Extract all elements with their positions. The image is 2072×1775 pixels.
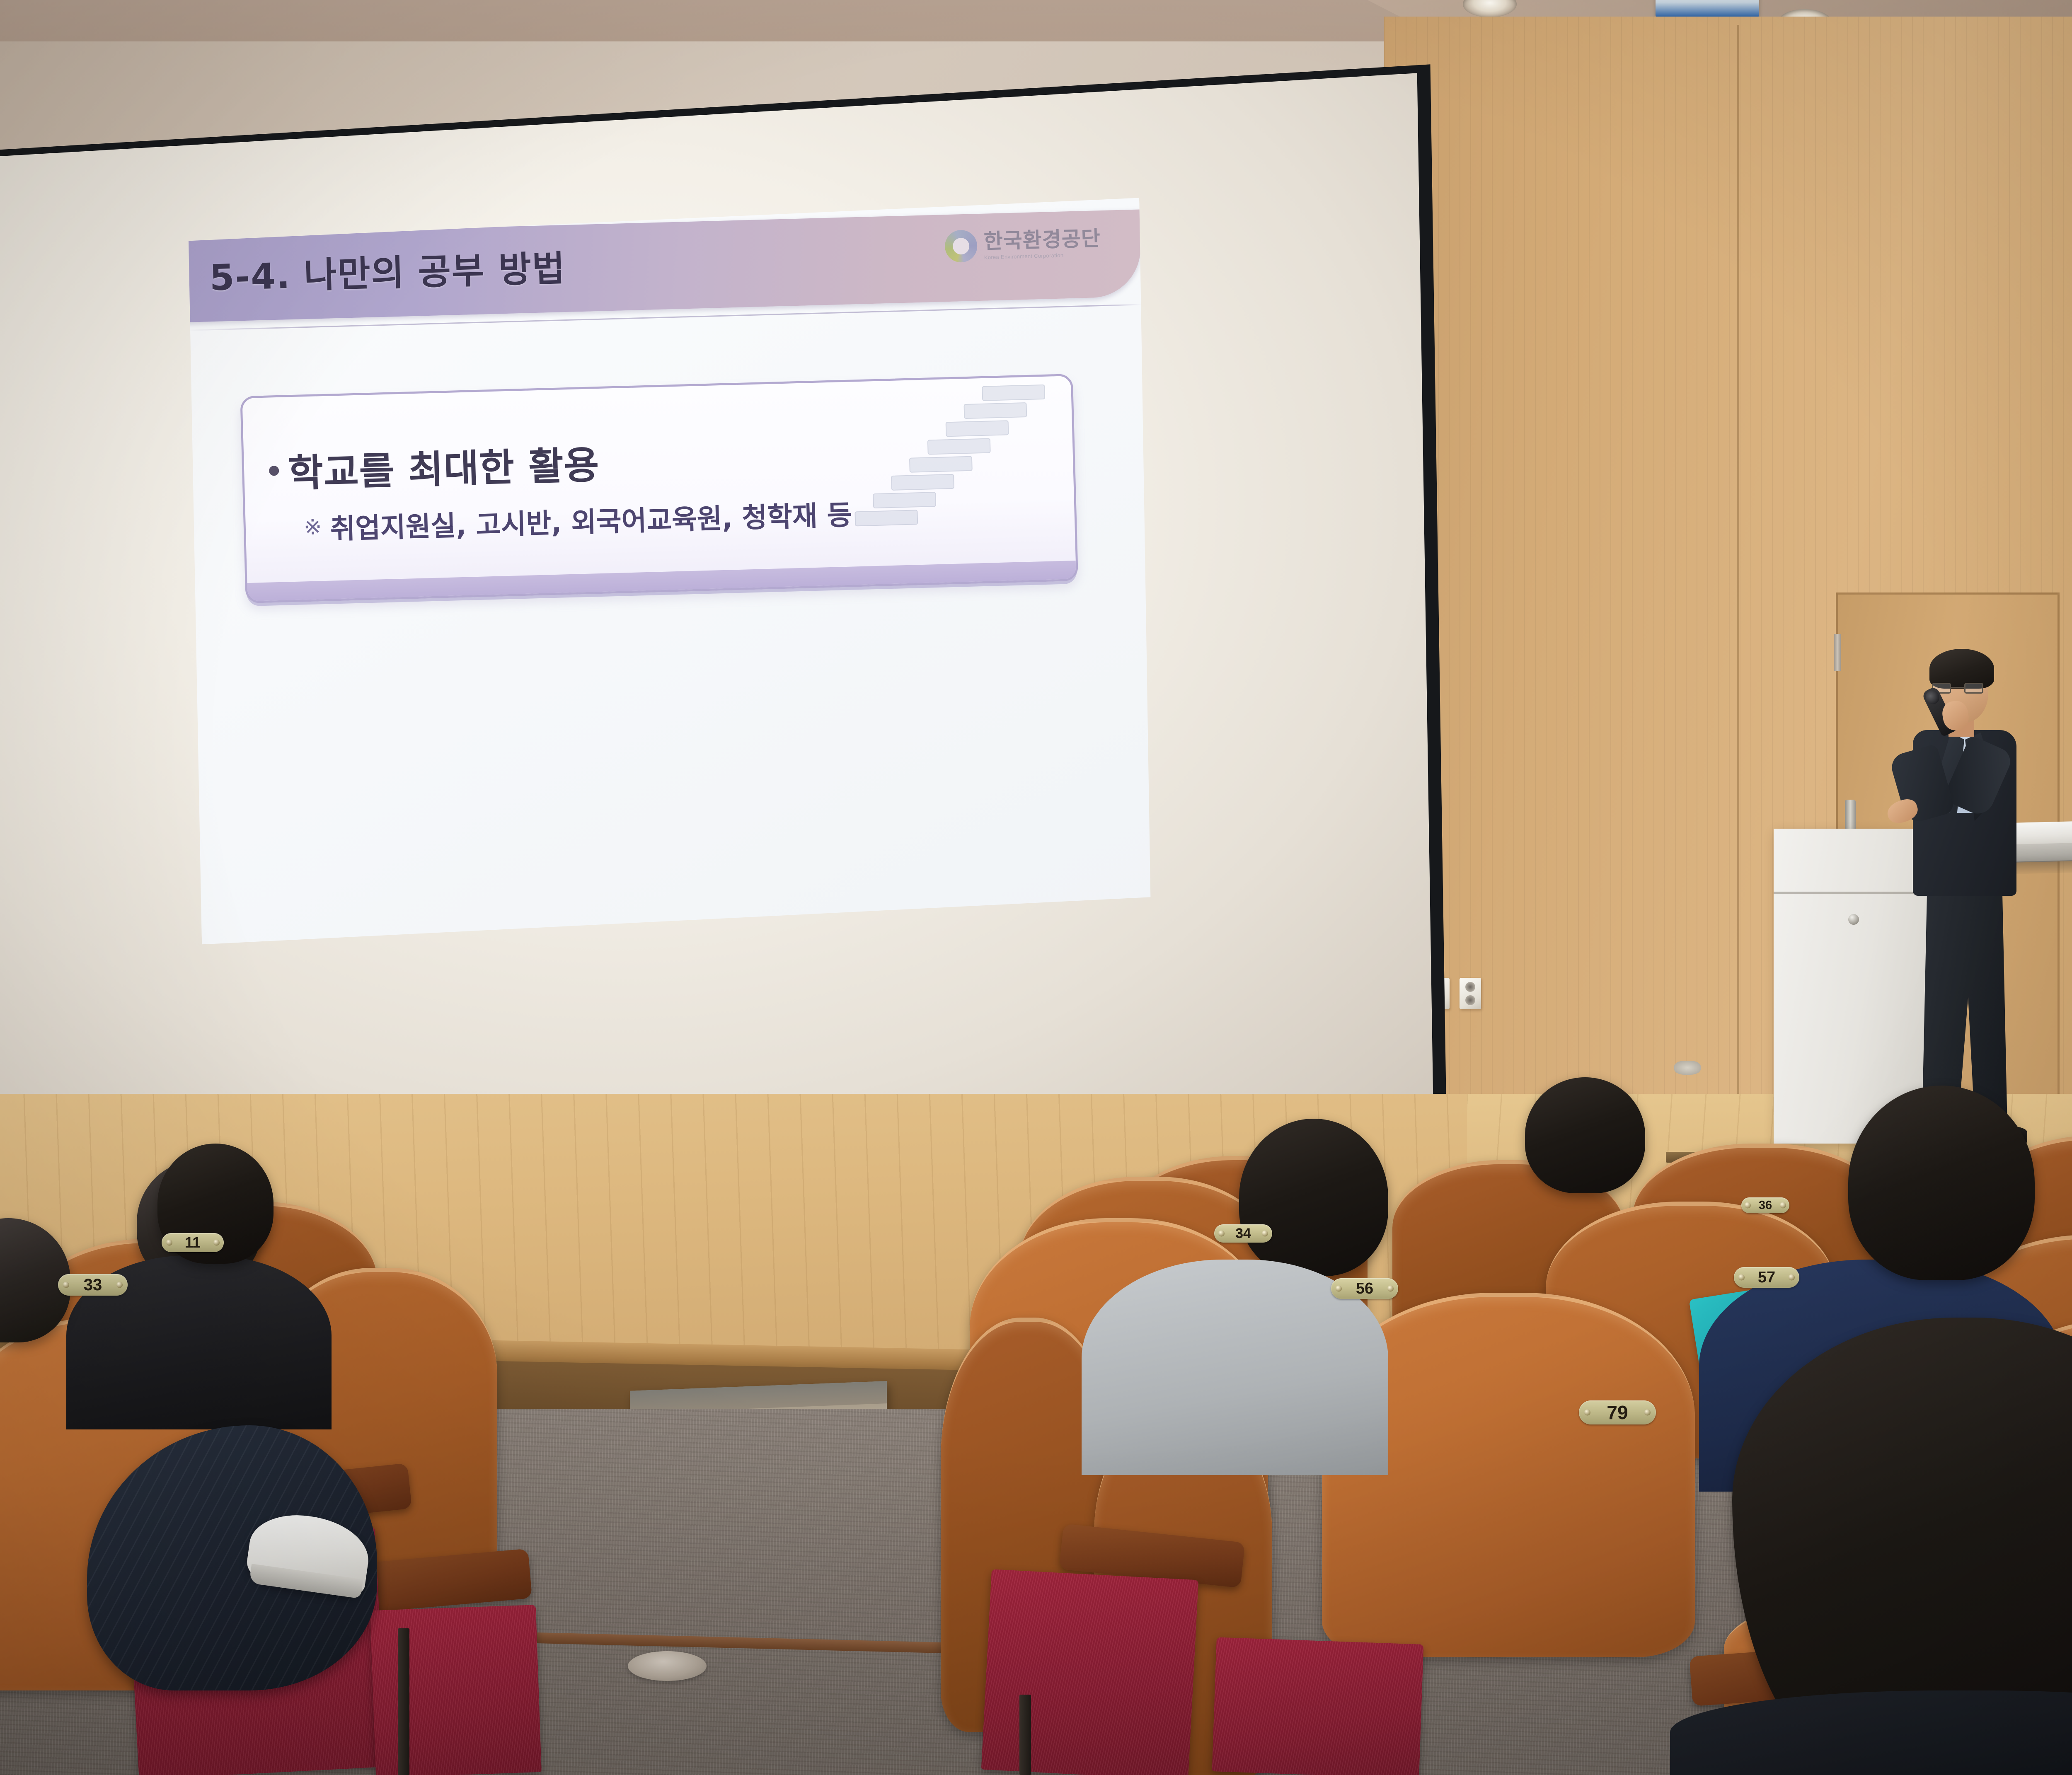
seat-number-plate: 33 [58,1274,128,1296]
seat-number-label: 56 [1356,1280,1373,1298]
seat-number-label: 36 [1759,1199,1772,1212]
seat-number-label: 11 [185,1234,201,1251]
floor-cable [1674,1061,1701,1075]
logo-name-ko: 한국환경공단 [983,228,1101,252]
bullet-dot-icon [269,465,279,476]
seat-number-label: 57 [1758,1269,1775,1287]
cabinet-lock-icon[interactable] [1848,914,1859,925]
slide-bullet-primary: 학교를 최대한 활용 [268,434,600,498]
logo-text-block: 한국환경공단 Korea Environment Corporation [983,228,1101,260]
door-hinge [1834,634,1841,671]
seat-number-label: 79 [1607,1401,1628,1424]
ceiling-sign [1656,0,1759,17]
seat-number-plate: 11 [162,1233,224,1252]
asterisk-marker-icon: ※ [303,516,322,538]
slide-content-box: 학교를 최대한 활용 ※ 취업지원실, 고시반, 외국어교육원, 청학재 등 [240,374,1078,603]
audience-head [1848,1086,2035,1280]
stairs-decoration-icon [837,380,1057,560]
seat-cushion [981,1569,1199,1775]
seat-support-leg [398,1628,409,1775]
wood-panel-seam [1737,25,1739,1102]
seat-number-plate: 56 [1331,1278,1398,1299]
seat-number-label: 34 [1235,1226,1251,1242]
floor-access-plate [628,1651,707,1681]
seat-cushion [370,1605,542,1775]
bullet-secondary-text: 취업지원실, 고시반, 외국어교육원, 청학재 등 [329,493,852,547]
seat-support-leg [1019,1695,1031,1775]
seat-number-plate: 36 [1741,1197,1789,1213]
eyeglasses-icon [1932,683,1983,694]
audience-head [1525,1077,1645,1193]
seat-cushion [1212,1637,1423,1775]
seat-number-plate: 34 [1214,1224,1272,1243]
projected-slide: 5-4. 나만의 공부 방법 한국환경공단 Korea Environment … [182,198,1159,945]
slide-title: 5-4. 나만의 공부 방법 [209,239,566,300]
seat-number-plate: 79 [1579,1400,1656,1424]
slide-canvas: 5-4. 나만의 공부 방법 한국환경공단 Korea Environment … [182,198,1159,945]
organization-logo: 한국환경공단 Korea Environment Corporation [944,226,1101,263]
bullet-primary-text: 학교를 최대한 활용 [287,434,600,498]
auditorium-scene: 5-4. 나만의 공부 방법 한국환경공단 Korea Environment … [0,0,2072,1775]
ring-logo-icon [944,230,978,263]
seat-number-label: 33 [84,1276,102,1294]
presenter [1873,638,2047,1156]
slide-bullet-secondary: ※ 취업지원실, 고시반, 외국어교육원, 청학재 등 [303,493,853,548]
projection-screen: 5-4. 나만의 공부 방법 한국환경공단 Korea Environment … [0,62,1467,1156]
audience-head [1239,1119,1388,1276]
seat-number-plate: 57 [1734,1267,1799,1288]
